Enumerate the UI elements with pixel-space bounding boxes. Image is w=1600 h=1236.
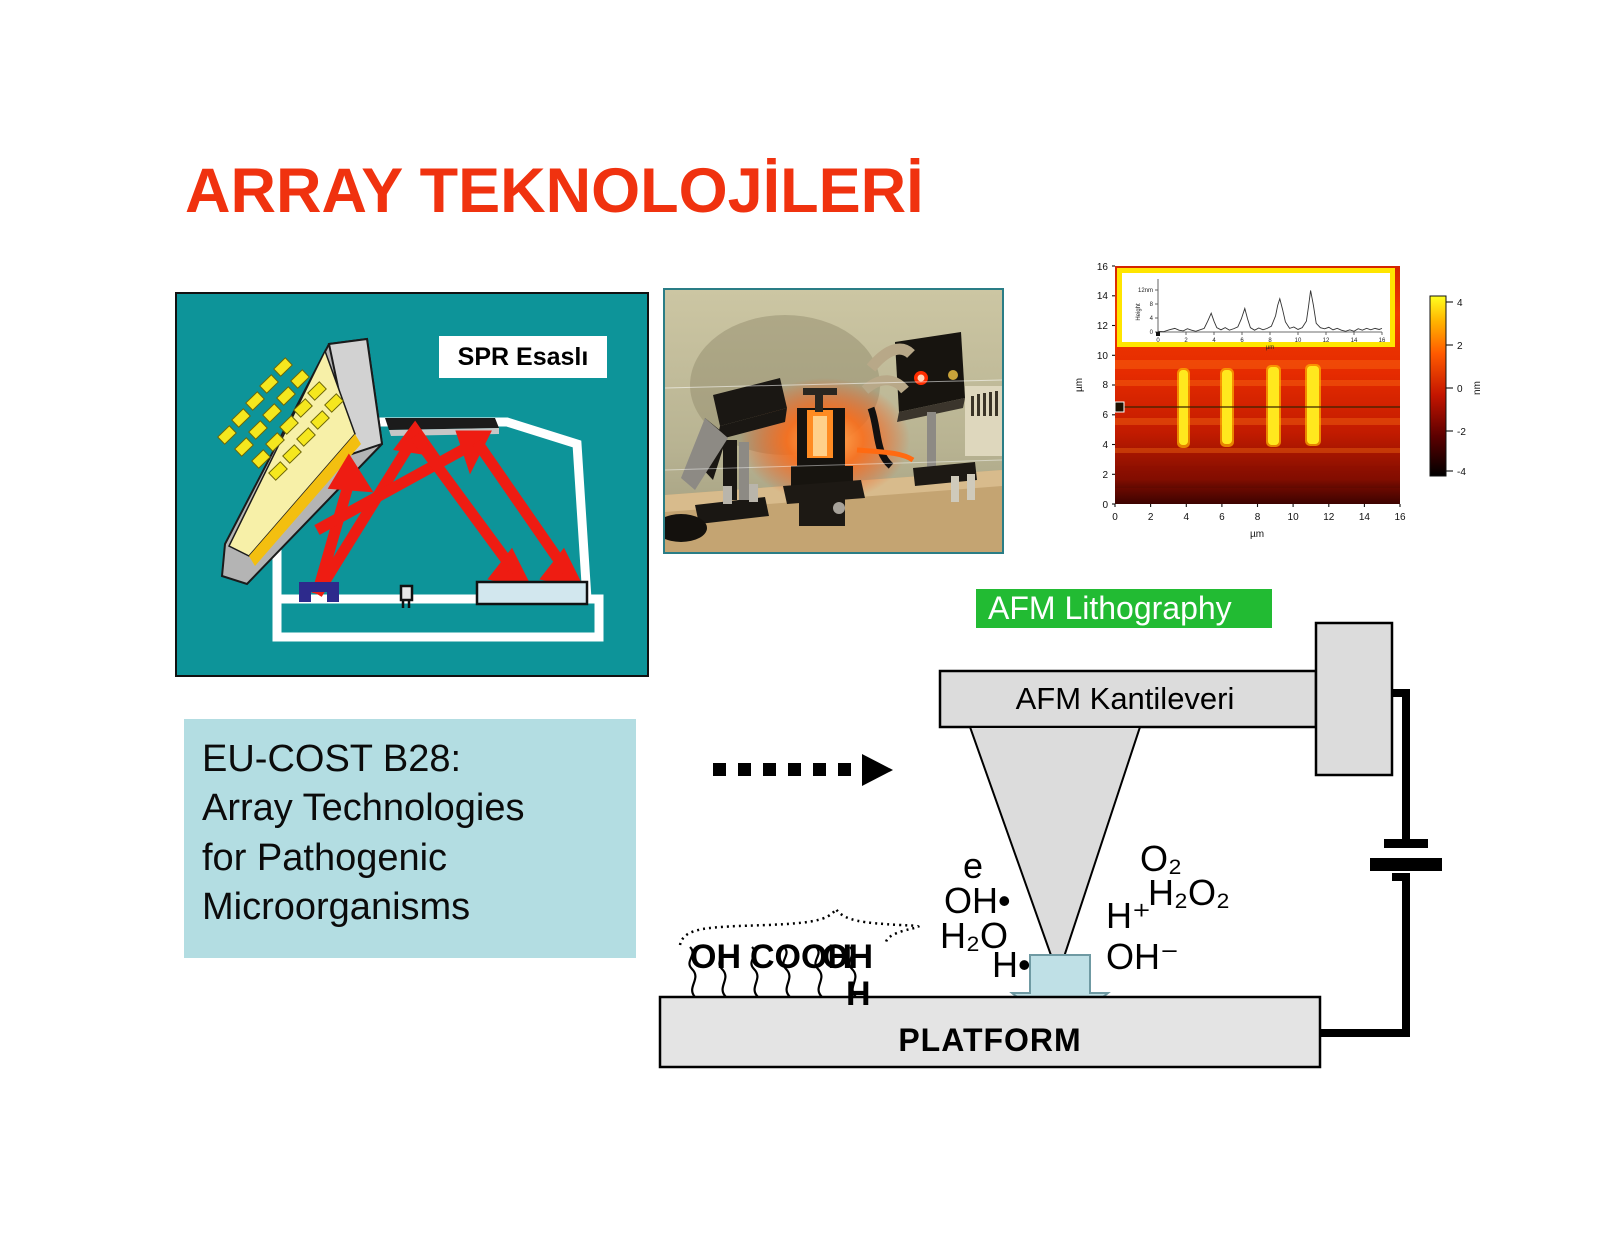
process-arrow — [713, 754, 893, 786]
spr-chip — [218, 339, 382, 584]
eu-cost-line-4: Microorganisms — [202, 883, 618, 932]
afm-xlabel: µm — [1250, 529, 1264, 540]
svg-text:6: 6 — [1219, 512, 1225, 523]
eu-cost-line-1: EU-COST B28: — [202, 735, 618, 784]
surface-group-oh-2: OH — [822, 938, 873, 977]
svg-text:4: 4 — [1102, 440, 1108, 451]
eu-cost-line-3: for Pathogenic — [202, 834, 618, 883]
svg-text:10: 10 — [1295, 338, 1302, 344]
spr-diagram-panel: SPR Esaslı — [175, 292, 649, 677]
svg-text:8: 8 — [1102, 380, 1108, 391]
spr-esasli-label: SPR Esaslı — [439, 336, 607, 378]
surface-group-oh-1: OH — [690, 938, 741, 977]
svg-text:2: 2 — [1102, 470, 1108, 481]
height-profile-inset: 04 812nm Height 024 6810 121416 µm — [1117, 268, 1395, 351]
afm-cantilever-beam — [940, 671, 1316, 727]
surface-group-h: H — [846, 975, 871, 1014]
svg-text:4: 4 — [1457, 298, 1463, 309]
afm-image-block: 04 812nm Height 024 6810 121416 µm — [1060, 252, 1490, 542]
afm-colorbar: 420 -2-4 nm — [1430, 296, 1483, 478]
svg-text:16: 16 — [1394, 512, 1406, 523]
svg-text:6: 6 — [1102, 410, 1108, 421]
spr-instrument-photo — [663, 288, 1004, 554]
svg-text:-2: -2 — [1457, 427, 1466, 438]
svg-text:10: 10 — [1288, 512, 1300, 523]
svg-text:0: 0 — [1102, 500, 1108, 511]
svg-text:12: 12 — [1097, 321, 1109, 332]
svg-text:12: 12 — [1323, 512, 1335, 523]
colorbar-unit-label: nm — [1472, 381, 1483, 395]
svg-text:-4: -4 — [1457, 467, 1466, 478]
eu-cost-textbox: EU-COST B28: Array Technologies for Path… — [184, 719, 636, 958]
svg-text:14: 14 — [1097, 291, 1109, 302]
platform-box — [660, 997, 1320, 1067]
species-hydrogen-peroxide: H₂O₂ — [1148, 872, 1230, 914]
svg-text:12: 12 — [1323, 338, 1330, 344]
svg-text:4: 4 — [1184, 512, 1190, 523]
species-hydroxide: OH⁻ — [1106, 936, 1179, 978]
svg-text:16: 16 — [1097, 262, 1109, 273]
battery-symbol — [1370, 839, 1442, 871]
species-hydrogen-radical: H• — [992, 944, 1031, 986]
svg-text:0: 0 — [1112, 512, 1118, 523]
cantilever-holder-block — [1316, 623, 1392, 775]
svg-text:14: 14 — [1351, 338, 1358, 344]
afm-lithography-schematic — [650, 615, 1450, 1085]
svg-text:0: 0 — [1457, 384, 1463, 395]
afm-ylabel: µm — [1074, 378, 1085, 392]
svg-text:14: 14 — [1359, 512, 1371, 523]
svg-text:10: 10 — [1097, 351, 1109, 362]
svg-text:µm: µm — [1266, 345, 1274, 351]
page-title: ARRAY TEKNOLOJİLERİ — [185, 155, 1085, 227]
svg-text:16: 16 — [1379, 338, 1386, 344]
svg-text:2: 2 — [1148, 512, 1154, 523]
species-proton: H⁺ — [1106, 895, 1151, 937]
afm-heatmap-svg: 04 812nm Height 024 6810 121416 µm — [1060, 252, 1490, 542]
svg-text:Height: Height — [1136, 303, 1142, 321]
svg-text:8: 8 — [1255, 512, 1261, 523]
svg-text:12nm: 12nm — [1138, 288, 1153, 294]
svg-text:2: 2 — [1457, 341, 1463, 352]
eu-cost-line-2: Array Technologies — [202, 784, 618, 833]
